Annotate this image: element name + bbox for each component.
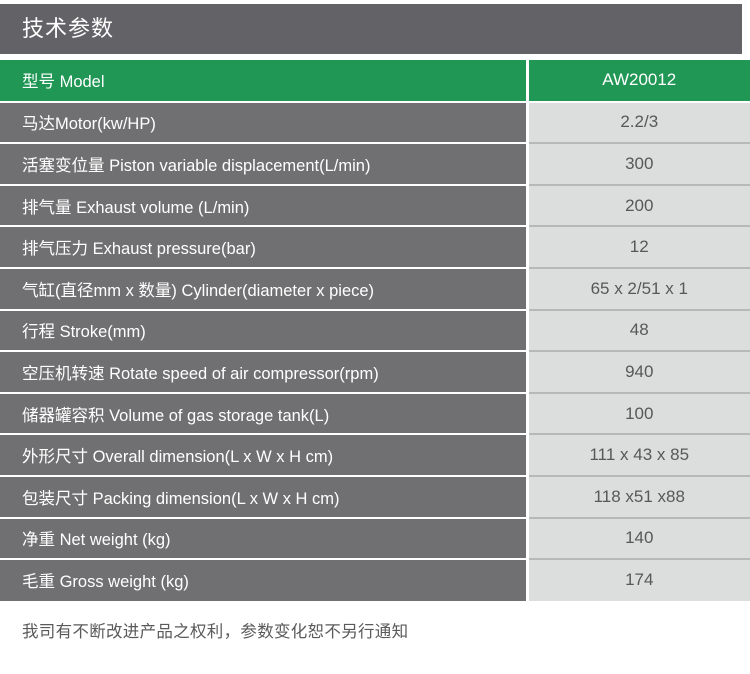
- spec-label: 包装尺寸 Packing dimension(L x W x H cm): [0, 476, 527, 518]
- page-title: 技术参数: [22, 18, 114, 40]
- section-title-bar: 技术参数: [0, 4, 742, 54]
- spec-label: 外形尺寸 Overall dimension(L x W x H cm): [0, 434, 527, 476]
- technical-specifications-table: 型号 Model AW20012 马达Motor(kw/HP) 2.2/3 活塞…: [0, 60, 750, 601]
- spec-label: 马达Motor(kw/HP): [0, 102, 527, 144]
- spec-label: 气缸(直径mm x 数量) Cylinder(diameter x piece): [0, 268, 527, 310]
- spec-label: 储器罐容积 Volume of gas storage tank(L): [0, 393, 527, 435]
- table-row: 毛重 Gross weight (kg) 174: [0, 559, 750, 601]
- spec-sheet-page: 技术参数 型号 Model AW20012 马达Motor(kw/HP) 2.2…: [0, 0, 750, 674]
- spec-value: 111 x 43 x 85: [527, 434, 750, 476]
- spec-value: 118 x51 x88: [527, 476, 750, 518]
- table-row: 外形尺寸 Overall dimension(L x W x H cm) 111…: [0, 434, 750, 476]
- table-row: 活塞变位量 Piston variable displacement(L/min…: [0, 143, 750, 185]
- spec-value: 100: [527, 393, 750, 435]
- table-row: 净重 Net weight (kg) 140: [0, 518, 750, 560]
- spec-value: 65 x 2/51 x 1: [527, 268, 750, 310]
- spec-label: 排气量 Exhaust volume (L/min): [0, 185, 527, 227]
- table-row: 行程 Stroke(mm) 48: [0, 310, 750, 352]
- table-row: 空压机转速 Rotate speed of air compressor(rpm…: [0, 351, 750, 393]
- table-header-row: 型号 Model AW20012: [0, 60, 750, 102]
- spec-value: 300: [527, 143, 750, 185]
- spec-label: 空压机转速 Rotate speed of air compressor(rpm…: [0, 351, 527, 393]
- spec-label: 净重 Net weight (kg): [0, 518, 527, 560]
- spec-value: 12: [527, 226, 750, 268]
- spec-value: 940: [527, 351, 750, 393]
- spec-value: 174: [527, 559, 750, 601]
- spec-value: 48: [527, 310, 750, 352]
- spec-value: 140: [527, 518, 750, 560]
- table-row: 排气量 Exhaust volume (L/min) 200: [0, 185, 750, 227]
- spec-label: 排气压力 Exhaust pressure(bar): [0, 226, 527, 268]
- footer-disclaimer: 我司有不断改进产品之权利，参数变化恕不另行通知: [22, 618, 408, 642]
- table-row: 储器罐容积 Volume of gas storage tank(L) 100: [0, 393, 750, 435]
- table-row: 马达Motor(kw/HP) 2.2/3: [0, 102, 750, 144]
- spec-value: 2.2/3: [527, 102, 750, 144]
- column-header-model-value: AW20012: [527, 60, 750, 102]
- spec-label: 行程 Stroke(mm): [0, 310, 527, 352]
- spec-label: 毛重 Gross weight (kg): [0, 559, 527, 601]
- table-row: 排气压力 Exhaust pressure(bar) 12: [0, 226, 750, 268]
- spec-label: 活塞变位量 Piston variable displacement(L/min…: [0, 143, 527, 185]
- spec-value: 200: [527, 185, 750, 227]
- table-row: 气缸(直径mm x 数量) Cylinder(diameter x piece)…: [0, 268, 750, 310]
- table-row: 包装尺寸 Packing dimension(L x W x H cm) 118…: [0, 476, 750, 518]
- column-header-model-label: 型号 Model: [0, 60, 527, 102]
- table-body: 型号 Model AW20012 马达Motor(kw/HP) 2.2/3 活塞…: [0, 60, 750, 601]
